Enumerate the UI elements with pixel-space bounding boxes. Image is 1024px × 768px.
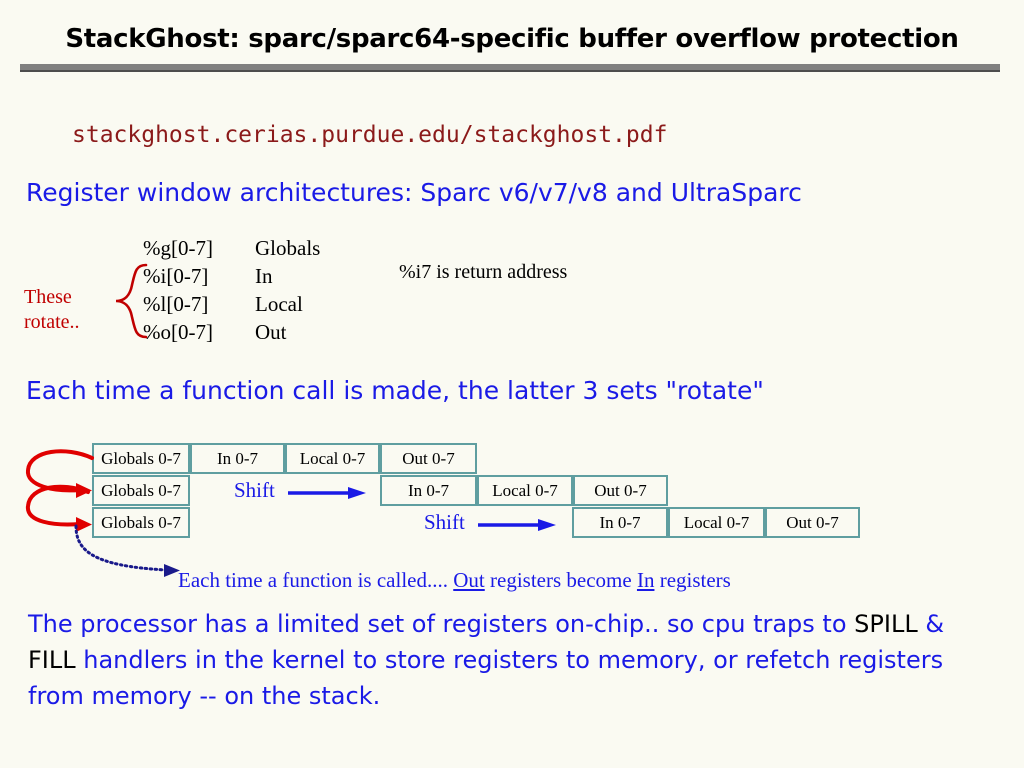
keyword-fill: FILL [28,646,76,674]
window-cell-local-row3: Local 0-7 [668,507,765,538]
register-desc: Local [255,290,303,318]
cell-label: Globals 0-7 [94,445,188,472]
window-cell-in-row2: In 0-7 [380,475,477,506]
caption-emph-out: Out [453,568,485,592]
cell-label: Globals 0-7 [94,477,188,504]
register-desc: In [255,262,273,290]
return-address-note: %i7 is return address [399,261,567,284]
cell-label: Local 0-7 [479,477,571,504]
register-name: %g[0-7] [143,234,255,262]
register-name: %o[0-7] [143,318,255,346]
cell-label: Local 0-7 [287,445,378,472]
window-cell-local-row1: Local 0-7 [285,443,380,474]
shift-label-1: Shift [234,478,275,503]
caption-out-become-in: Each time a function is called.... Out r… [178,568,731,593]
caption-part2: registers become [485,568,637,592]
cell-label: Out 0-7 [382,445,475,472]
curly-brace-icon [102,262,148,340]
section-heading-register-windows: Register window architectures: Sparc v6/… [26,178,802,207]
register-name: %i[0-7] [143,262,255,290]
title-divider [20,64,1000,72]
window-cell-globals-row2: Globals 0-7 [92,475,190,506]
cell-label: In 0-7 [574,509,666,536]
bottom-paragraph: The processor has a limited set of regis… [28,606,988,714]
paragraph-segment-2: & [918,610,944,638]
window-cell-out-row3: Out 0-7 [765,507,860,538]
register-name: %l[0-7] [143,290,255,318]
source-url[interactable]: stackghost.cerias.purdue.edu/stackghost.… [72,122,667,148]
paragraph-segment-3: handlers in the kernel to store register… [28,646,943,710]
shift-arrow-2-icon [478,518,556,532]
page-title: StackGhost: sparc/sparc64-specific buffe… [0,24,1024,54]
cell-label: Out 0-7 [575,477,666,504]
shift-label-2: Shift [424,510,465,535]
paragraph-segment-1: The processor has a limited set of regis… [28,610,854,638]
window-cell-in-row3: In 0-7 [572,507,668,538]
window-cell-out-row1: Out 0-7 [380,443,477,474]
cell-label: Local 0-7 [670,509,763,536]
cell-label: In 0-7 [382,477,475,504]
caption-part3: registers [654,568,730,592]
shift-arrow-1-icon [288,486,366,500]
list-item: %l[0-7]Local [143,290,320,318]
rotate-annotation-line2: rotate.. [24,310,80,335]
list-item: %o[0-7]Out [143,318,320,346]
caption-emph-in: In [637,568,655,592]
register-desc: Globals [255,234,320,262]
section-heading-rotate: Each time a function call is made, the l… [26,376,764,405]
window-cell-in-row1: In 0-7 [190,443,285,474]
register-desc: Out [255,318,287,346]
keyword-spill: SPILL [854,610,918,638]
window-cell-local-row2: Local 0-7 [477,475,573,506]
list-item: %g[0-7]Globals [143,234,320,262]
dotted-pointer-icon [46,524,186,584]
window-cell-globals-row1: Globals 0-7 [92,443,190,474]
caption-part1: Each time a function is called.... [178,568,453,592]
cell-label: Out 0-7 [767,509,858,536]
window-cell-out-row2: Out 0-7 [573,475,668,506]
rotate-annotation-line1: These [24,285,80,310]
rotate-annotation: These rotate.. [24,285,80,335]
list-item: %i[0-7]In [143,262,320,290]
cell-label: In 0-7 [192,445,283,472]
slide-canvas: StackGhost: sparc/sparc64-specific buffe… [0,0,1024,768]
register-list: %g[0-7]Globals %i[0-7]In %l[0-7]Local %o… [143,234,320,346]
